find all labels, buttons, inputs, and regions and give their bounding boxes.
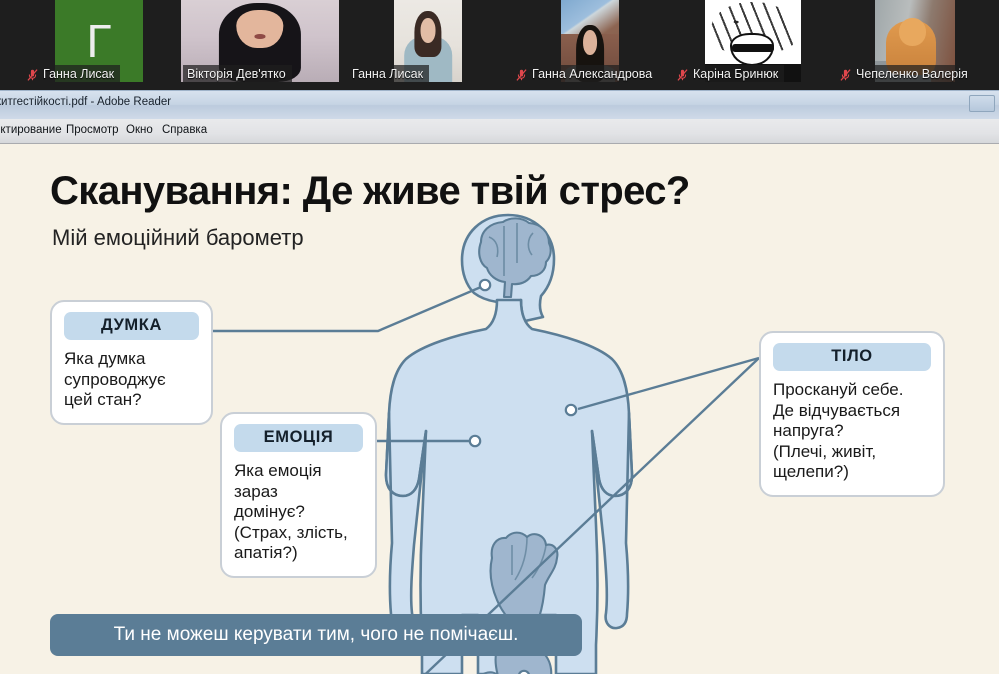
connector-dumka-to-brain: [213, 287, 481, 331]
heart-dot: [470, 436, 480, 446]
participant-name: Ганна Лисак: [352, 67, 423, 82]
card-tilo-badge: ТІЛО: [773, 343, 931, 371]
menu-item-view[interactable]: Просмотр: [66, 124, 119, 136]
card-dumka-body: Яка думка супроводжує цей стан?: [64, 349, 199, 411]
participant-name-badge: Чепеленко Валерія: [835, 65, 974, 84]
human-body-silhouette: [386, 215, 632, 674]
card-tilo-body: Просканyй себе. Де відчувається напруга?…: [773, 380, 931, 483]
participant-name: Ганна Александрова: [532, 67, 652, 82]
participant-name: Вікторія Дев'ятко: [187, 67, 286, 82]
participant-tile[interactable]: Ганна Лисак: [346, 0, 509, 90]
quote-text: Ти не можеш керувати тим, чого не поміча…: [114, 624, 519, 646]
adobe-reader-window-chrome: китгестійкості.pdf - Adobe Reader ектиро…: [0, 90, 999, 145]
participant-name-badge: Ганна Лисак: [348, 65, 429, 84]
participant-name: Чепеленко Валерія: [856, 67, 968, 82]
card-dumka-badge: ДУМКА: [64, 312, 199, 340]
participant-tile[interactable]: Ганна Александрова: [509, 0, 672, 90]
participant-name: Ганна Лисак: [43, 67, 114, 82]
menu-item-help[interactable]: Справка: [162, 124, 207, 136]
participant-name-badge: Вікторія Дев'ятко: [183, 65, 292, 84]
microphone-muted-icon: [839, 68, 852, 82]
participant-name-badge: Ганна Лисак: [22, 65, 120, 84]
card-emocia: ЕМОЦІЯ Яка емоція зараз домінує? (Страх,…: [220, 412, 377, 578]
participant-name-badge: Ганна Александрова: [511, 65, 658, 84]
card-tilo: ТІЛО Просканyй себе. Де відчувається нап…: [759, 331, 945, 497]
card-emocia-body: Яка емоція зараз домінує? (Страх, злість…: [234, 461, 363, 564]
window-title: китгестійкості.pdf - Adobe Reader: [0, 96, 171, 108]
participant-tile[interactable]: Вікторія Дев'ятко: [173, 0, 346, 90]
participant-tile[interactable]: Каріна Бринюк: [672, 0, 835, 90]
window-titlebar[interactable]: китгестійкості.pdf - Adobe Reader: [0, 90, 999, 119]
card-dumka: ДУМКА Яка думка супроводжує цей стан?: [50, 300, 213, 425]
menubar: ектирование Просмотр Окно Справка: [0, 119, 999, 144]
microphone-muted-icon: [676, 68, 689, 82]
menu-item-window[interactable]: Окно: [126, 124, 153, 136]
participant-tile[interactable]: Чепеленко Валерія: [835, 0, 999, 90]
brain-dot: [480, 280, 490, 290]
participant-name-badge: Каріна Бринюк: [672, 65, 784, 84]
quote-banner: Ти не можеш керувати тим, чого не поміча…: [50, 614, 582, 656]
participant-name: Каріна Бринюк: [693, 67, 778, 82]
card-emocia-badge: ЕМОЦІЯ: [234, 424, 363, 452]
microphone-muted-icon: [26, 68, 39, 82]
shoulder-dot: [566, 405, 576, 415]
restore-window-button[interactable]: [969, 95, 995, 112]
zoom-participant-strip: Г Ганна Лисак Вікторія Дев'ятко: [0, 0, 999, 90]
pdf-slide-page: Сканування: Де живе твій стрес? Мій емоц…: [0, 145, 999, 674]
microphone-muted-icon: [515, 68, 528, 82]
menu-item-edit[interactable]: ектирование: [0, 124, 62, 136]
participant-tile[interactable]: Г Ганна Лисак: [0, 0, 173, 90]
